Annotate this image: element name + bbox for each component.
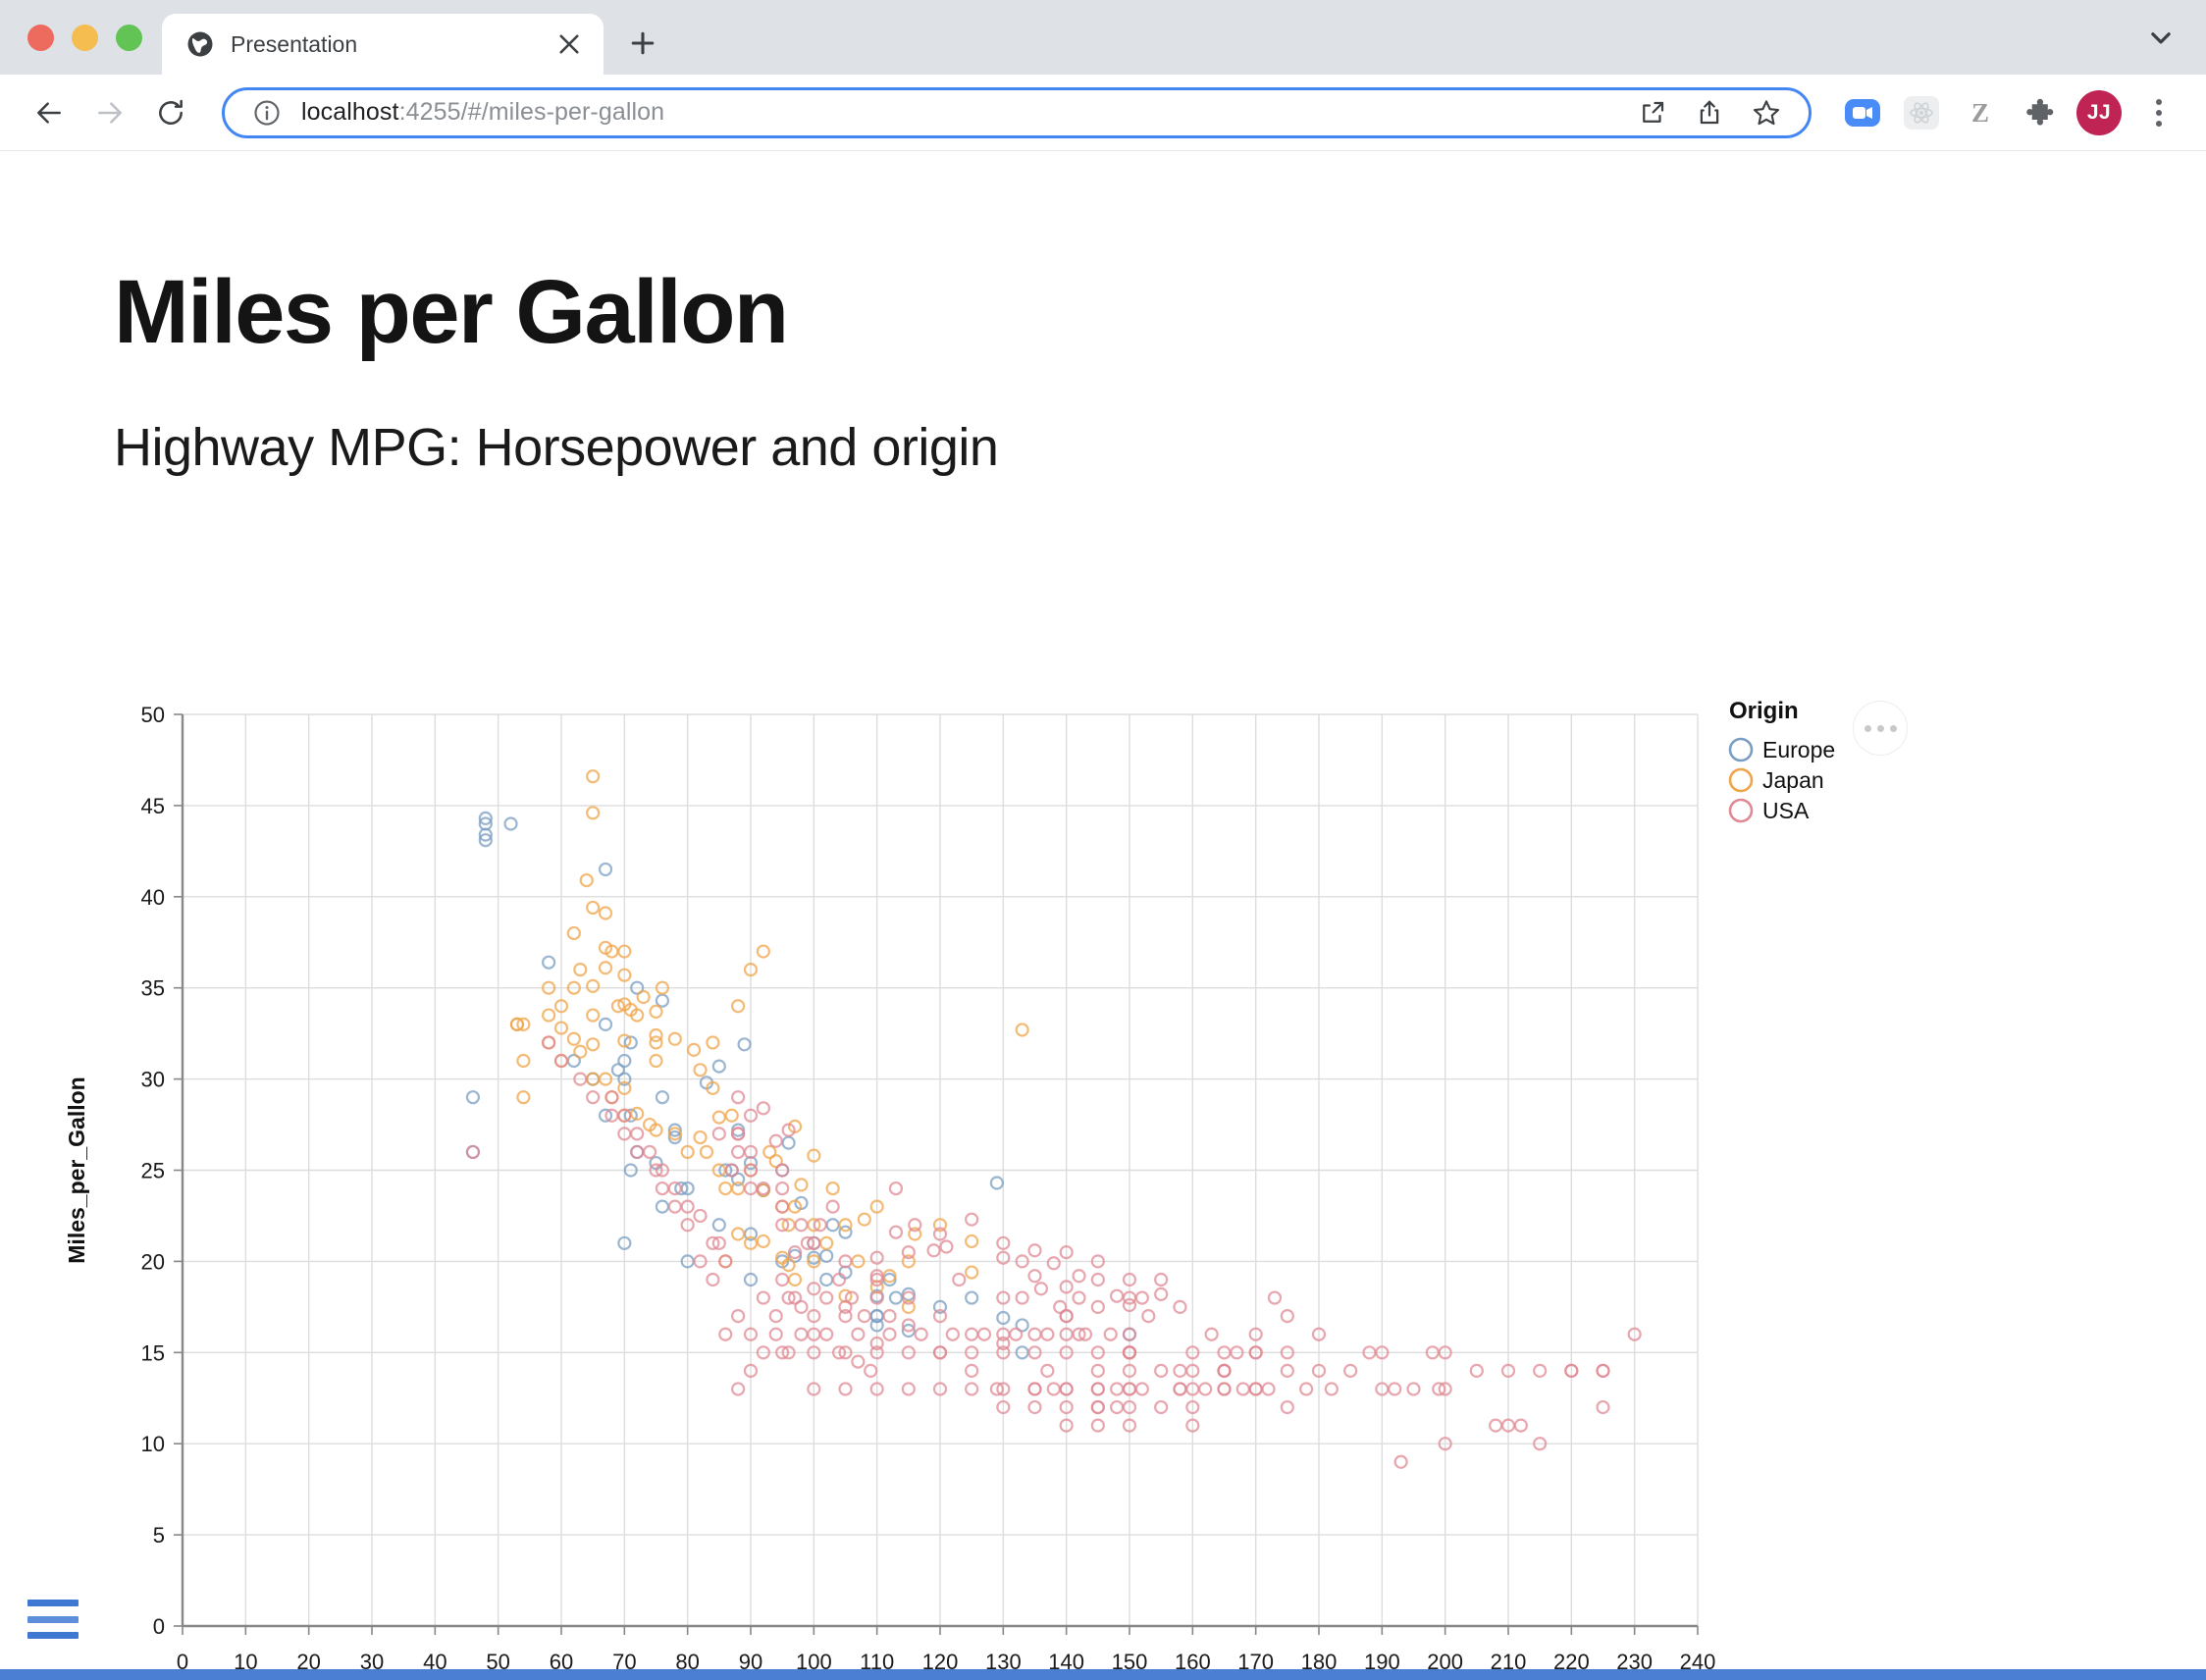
- svg-text:20: 20: [141, 1249, 165, 1274]
- page-content: Miles per Gallon Highway MPG: Horsepower…: [0, 151, 2206, 1680]
- react-devtools-icon[interactable]: [1900, 91, 1943, 134]
- svg-text:25: 25: [141, 1159, 165, 1183]
- chart-tick-labels: 0102030405060708090100110120130140150160…: [141, 703, 1716, 1674]
- back-arrow-icon[interactable]: [22, 85, 77, 140]
- open-in-new-icon[interactable]: [1634, 94, 1671, 131]
- svg-text:Z: Z: [1971, 98, 1989, 128]
- forward-arrow-icon[interactable]: [82, 85, 137, 140]
- info-circle-icon[interactable]: [248, 94, 286, 131]
- series-japan: [511, 770, 1028, 1313]
- window-controls: [0, 25, 162, 75]
- svg-text:10: 10: [141, 1432, 165, 1456]
- hamburger-menu-icon[interactable]: [27, 1600, 79, 1639]
- chart-gridlines: [183, 714, 1698, 1626]
- kebab-menu-icon[interactable]: [2137, 91, 2180, 134]
- url-path: :4255/#/miles-per-gallon: [399, 98, 665, 126]
- svg-text:40: 40: [141, 885, 165, 910]
- url-host: localhost: [301, 98, 399, 126]
- svg-text:30: 30: [141, 1068, 165, 1092]
- minimize-window-button[interactable]: [72, 25, 98, 51]
- chart-axes: [174, 714, 1698, 1635]
- address-bar[interactable]: localhost:4255/#/miles-per-gallon: [222, 87, 1812, 138]
- chevron-down-icon[interactable]: [2141, 18, 2180, 57]
- globe-icon: [185, 29, 215, 59]
- legend-swatch-usa: [1730, 800, 1752, 821]
- url-text: localhost:4255/#/miles-per-gallon: [301, 98, 1618, 127]
- tab-strip: Presentation: [0, 0, 2206, 75]
- svg-text:15: 15: [141, 1340, 165, 1365]
- bookmark-star-icon[interactable]: [1748, 94, 1785, 131]
- svg-text:0: 0: [153, 1614, 165, 1639]
- share-icon[interactable]: [1691, 94, 1728, 131]
- legend-swatch-europe: [1730, 739, 1752, 761]
- scatter-chart: 0102030405060708090100110120130140150160…: [0, 151, 2206, 1680]
- series-usa: [467, 1036, 1641, 1467]
- zoom-extension-icon[interactable]: [1841, 91, 1884, 134]
- svg-text:45: 45: [141, 794, 165, 818]
- legend-label-usa: USA: [1762, 798, 1810, 823]
- browser-window: Presentation: [0, 0, 2206, 1680]
- legend-title: Origin: [1729, 698, 1799, 724]
- profile-avatar[interactable]: JJ: [2076, 90, 2122, 135]
- browser-toolbar: localhost:4255/#/miles-per-gallon: [0, 75, 2206, 151]
- chart-svg[interactable]: 0102030405060708090100110120130140150160…: [0, 151, 2206, 1680]
- chart-points: [467, 770, 1641, 1468]
- legend-label-europe: Europe: [1762, 737, 1835, 762]
- close-tab-button[interactable]: [552, 27, 586, 61]
- chart-legend: OriginEuropeJapanUSA: [1729, 698, 1835, 823]
- slide-progress-bar: [0, 1669, 2206, 1680]
- series-europe: [467, 813, 1135, 1358]
- svg-text:5: 5: [153, 1523, 165, 1548]
- legend-swatch-japan: [1730, 769, 1752, 791]
- legend-label-japan: Japan: [1762, 767, 1824, 793]
- reload-icon[interactable]: [143, 85, 198, 140]
- zotero-extension-icon[interactable]: Z: [1959, 91, 2002, 134]
- new-tab-button[interactable]: [615, 16, 670, 71]
- extensions-area: Z JJ: [1831, 90, 2180, 135]
- omnibox-actions: [1634, 94, 1791, 131]
- close-window-button[interactable]: [27, 25, 54, 51]
- legend-overflow-menu-button[interactable]: [1853, 701, 1908, 756]
- svg-text:50: 50: [141, 703, 165, 727]
- maximize-window-button[interactable]: [116, 25, 142, 51]
- puzzle-extensions-icon[interactable]: [2018, 91, 2061, 134]
- svg-text:35: 35: [141, 976, 165, 1001]
- browser-tab[interactable]: Presentation: [162, 14, 604, 75]
- tab-title: Presentation: [231, 31, 537, 58]
- y-axis-title: Miles_per_Gallon: [64, 1076, 89, 1263]
